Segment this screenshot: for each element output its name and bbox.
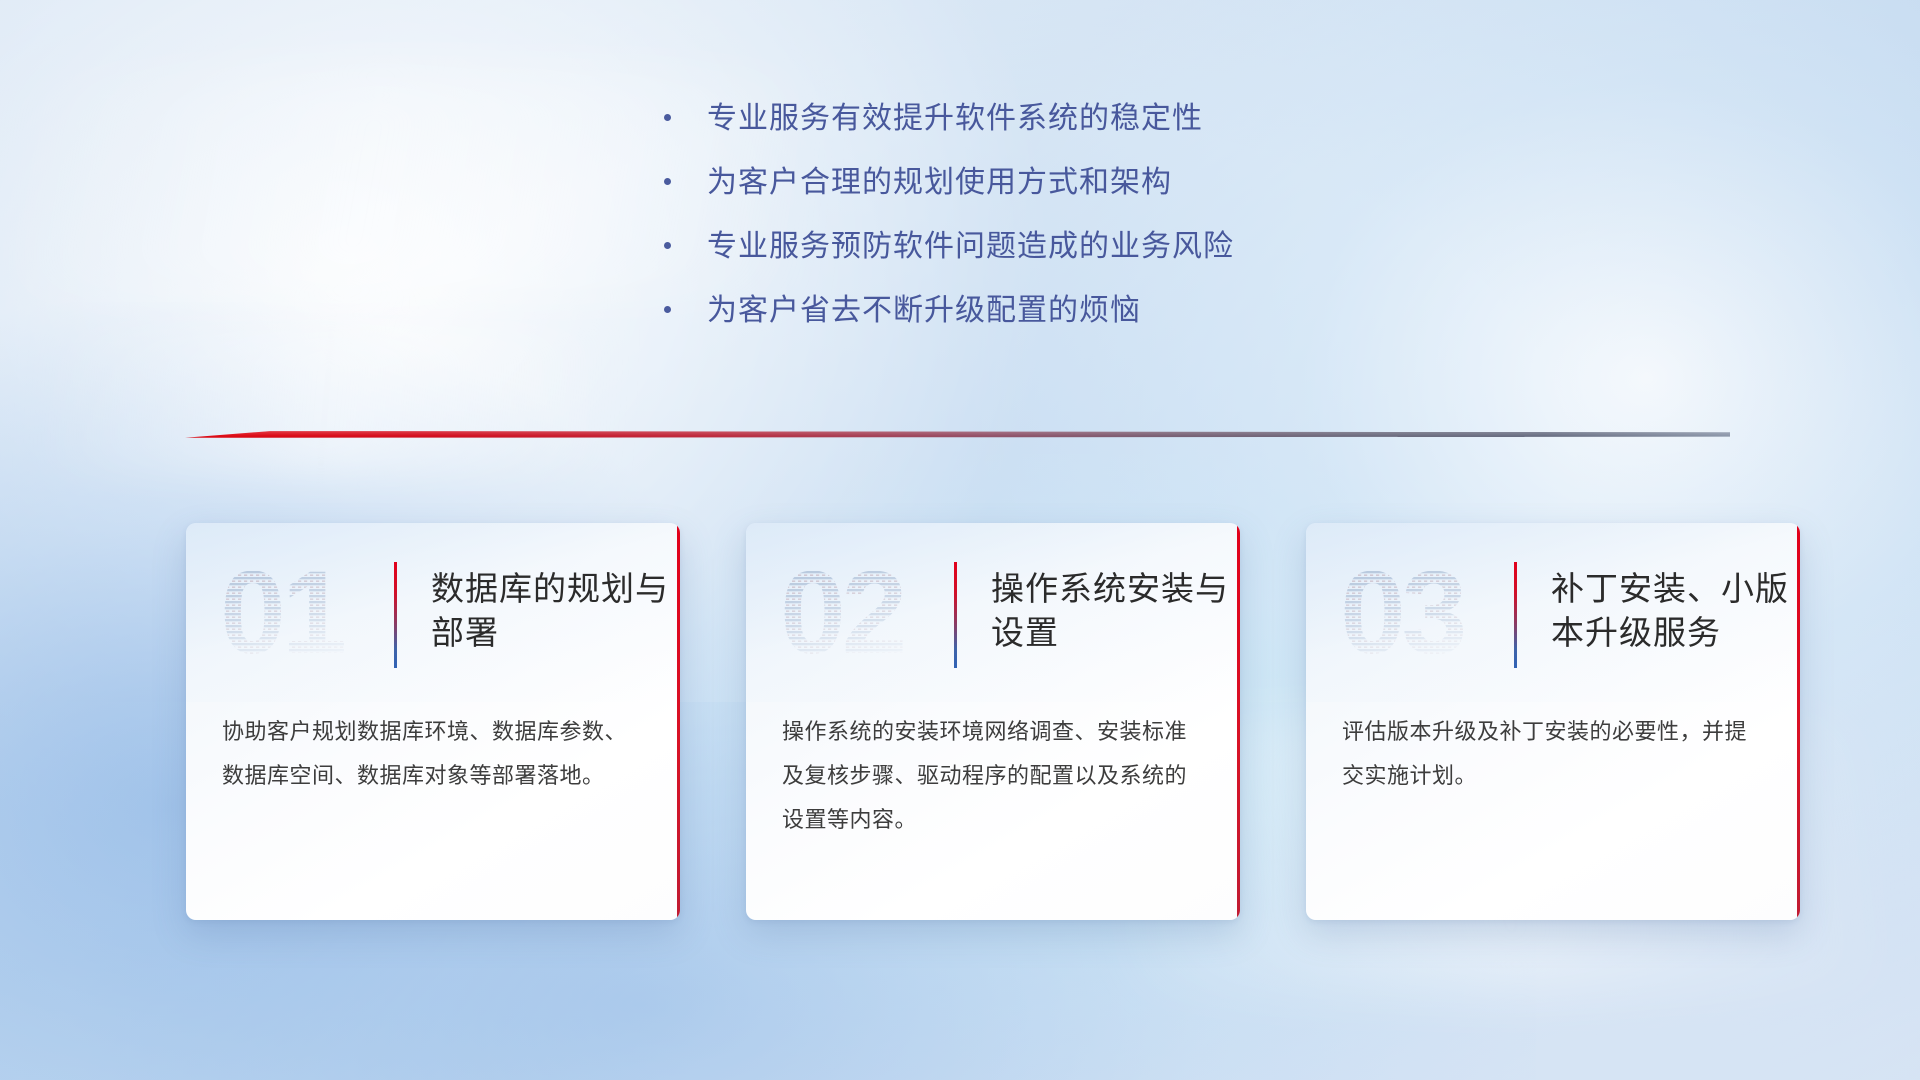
- card-body-text: 协助客户规划数据库环境、数据库参数、数据库空间、数据库对象等部署落地。: [186, 710, 680, 798]
- svg-text:02: 02: [780, 553, 903, 675]
- svg-text:03: 03: [1340, 553, 1464, 675]
- bullet-item-label: 专业服务预防软件问题造成的业务风险: [707, 232, 1234, 262]
- bullet-item: 专业服务预防软件问题造成的业务风险: [664, 232, 1564, 296]
- card-body-text: 操作系统的安装环境网络调查、安装标准及复核步骤、驱动程序的配置以及系统的设置等内…: [746, 710, 1240, 842]
- card-number-watermark-icon: 02: [780, 553, 930, 675]
- service-card[interactable]: 02 操作系统安装与设置 操作系统的安装环境网络调查、安装标准及复核步骤、驱动程…: [746, 523, 1240, 920]
- svg-text:01: 01: [220, 553, 345, 675]
- card-title-divider-bar: [1514, 562, 1517, 668]
- card-title: 数据库的规划与部署: [431, 567, 680, 654]
- card-row: 01 数据库的规划与部署 协助客户规划数据库环境、数据库参数、数据库空间、数据库…: [186, 523, 1800, 920]
- bullet-dot-icon: [664, 178, 671, 185]
- card-title: 操作系统安装与设置: [991, 567, 1240, 654]
- bullet-dot-icon: [664, 242, 671, 249]
- tapered-rule-shading: [185, 428, 1730, 442]
- bullet-item-label: 为客户省去不断升级配置的烦恼: [707, 296, 1141, 326]
- card-title: 补丁安装、小版本升级服务: [1551, 567, 1800, 654]
- card-number-watermark-icon: 01: [220, 553, 370, 675]
- card-body-text: 评估版本升级及补丁安装的必要性，并提交实施计划。: [1306, 710, 1800, 798]
- bullet-dot-icon: [664, 306, 671, 313]
- card-header: 01 数据库的规划与部署: [186, 523, 680, 698]
- card-header: 02 操作系统安装与设置: [746, 523, 1240, 698]
- card-title-divider-bar: [954, 562, 957, 668]
- bullet-item-label: 专业服务有效提升软件系统的稳定性: [707, 104, 1203, 134]
- section-divider: [185, 428, 1730, 442]
- bullet-dot-icon: [664, 114, 671, 121]
- bullet-list: 专业服务有效提升软件系统的稳定性 为客户合理的规划使用方式和架构 专业服务预防软…: [664, 104, 1564, 360]
- service-card[interactable]: 03 补丁安装、小版本升级服务 评估版本升级及补丁安装的必要性，并提交实施计划。: [1306, 523, 1800, 920]
- bullet-item: 为客户合理的规划使用方式和架构: [664, 168, 1564, 232]
- service-card[interactable]: 01 数据库的规划与部署 协助客户规划数据库环境、数据库参数、数据库空间、数据库…: [186, 523, 680, 920]
- bullet-item-label: 为客户合理的规划使用方式和架构: [707, 168, 1172, 198]
- card-number-watermark-icon: 03: [1340, 553, 1490, 675]
- bullet-item: 为客户省去不断升级配置的烦恼: [664, 296, 1564, 360]
- bullet-item: 专业服务有效提升软件系统的稳定性: [664, 104, 1564, 168]
- card-header: 03 补丁安装、小版本升级服务: [1306, 523, 1800, 698]
- card-title-divider-bar: [394, 562, 397, 668]
